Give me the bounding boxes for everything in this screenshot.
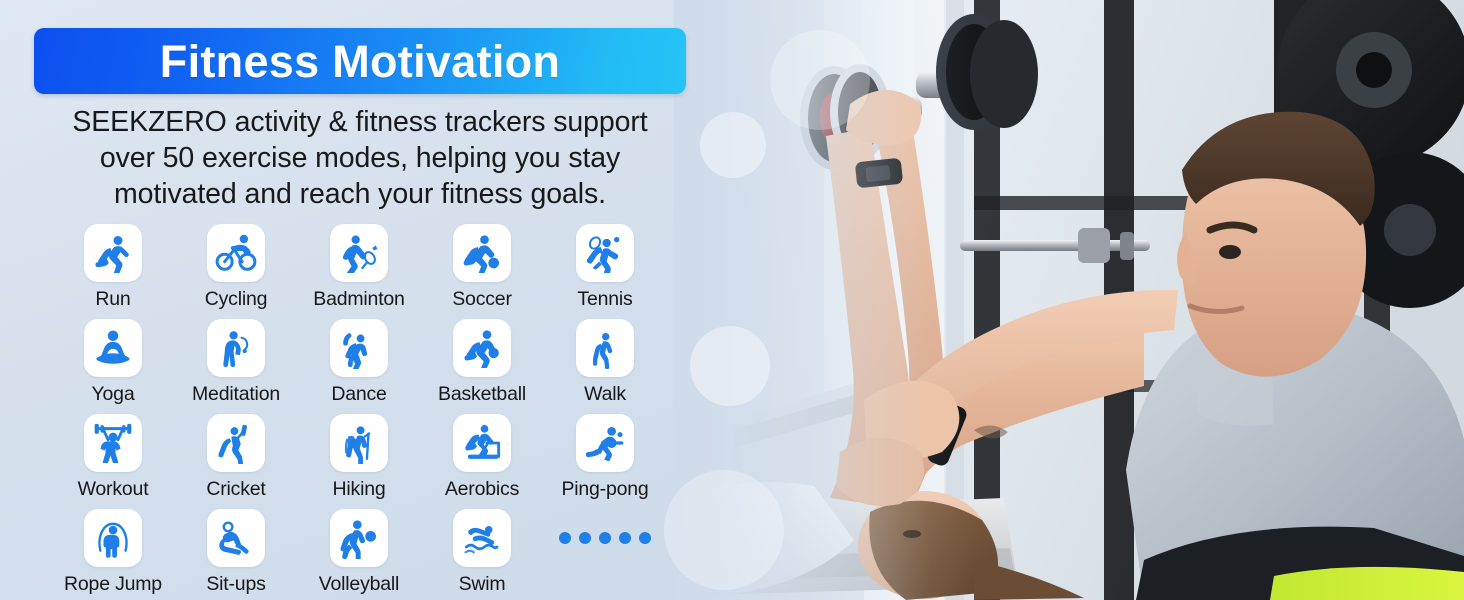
cricket-icon — [217, 422, 255, 464]
tennis-icon-tile — [576, 224, 634, 282]
rope-jump-icon — [94, 517, 132, 559]
soccer-icon-tile — [453, 224, 511, 282]
exercise-cell-dance[interactable]: Dance — [298, 319, 420, 405]
exercise-cell-rope-jump[interactable]: Rope Jump — [52, 509, 174, 595]
exercise-label: Volleyball — [319, 573, 399, 595]
meditation-icon — [217, 328, 255, 368]
volleyball-icon-tile — [330, 509, 388, 567]
description-line-2: over 50 exercise modes, helping you stay — [22, 140, 698, 176]
exercise-label: Sit-ups — [206, 573, 265, 595]
workout-icon — [92, 423, 134, 463]
dot-icon — [639, 532, 651, 544]
basketball-icon — [462, 328, 502, 368]
exercise-label: Rope Jump — [64, 573, 162, 595]
gym-photo-illustration — [674, 0, 1464, 600]
exercise-cell-tennis[interactable]: Tennis — [544, 224, 666, 310]
run-icon-tile — [84, 224, 142, 282]
exercise-label: Cricket — [206, 478, 265, 500]
dance-icon — [340, 327, 378, 369]
exercise-cell-cycling[interactable]: Cycling — [175, 224, 297, 310]
exercise-cell-ping-pong[interactable]: Ping-pong — [544, 414, 666, 500]
exercise-cell-hiking[interactable]: Hiking — [298, 414, 420, 500]
exercise-cell-basketball[interactable]: Basketball — [421, 319, 543, 405]
neon-accent — [1270, 567, 1464, 600]
exercise-label: Dance — [331, 383, 386, 405]
dot-icon — [619, 532, 631, 544]
exercise-cell-swim[interactable]: Swim — [421, 509, 543, 595]
more-modes-indicator — [544, 509, 666, 567]
exercise-label: Hiking — [333, 478, 386, 500]
exercise-row: Rope Jump Sit-ups — [52, 509, 692, 600]
exercise-label: Aerobics — [445, 478, 519, 500]
tennis-icon — [585, 233, 625, 273]
exercise-mode-grid: Run Cycling — [52, 224, 692, 600]
exercise-label: Walk — [584, 383, 626, 405]
exercise-cell-aerobics[interactable]: Aerobics — [421, 414, 543, 500]
hiking-icon-tile — [330, 414, 388, 472]
swim-icon-tile — [453, 509, 511, 567]
walk-icon — [588, 327, 622, 369]
badminton-icon — [339, 233, 379, 273]
dance-icon-tile — [330, 319, 388, 377]
ping-pong-icon — [584, 423, 626, 463]
swim-icon — [461, 520, 503, 556]
basketball-icon-tile — [453, 319, 511, 377]
cycling-icon — [215, 232, 257, 274]
volleyball-icon — [339, 517, 379, 559]
dot-icon — [579, 532, 591, 544]
exercise-cell-workout[interactable]: Workout — [52, 414, 174, 500]
exercise-cell-volleyball[interactable]: Volleyball — [298, 509, 420, 595]
exercise-cell-run[interactable]: Run — [52, 224, 174, 310]
exercise-row: Yoga Meditation — [52, 319, 692, 414]
badminton-icon-tile — [330, 224, 388, 282]
soccer-icon — [462, 233, 502, 273]
exercise-label: Run — [95, 288, 130, 310]
sit-ups-icon — [215, 519, 257, 557]
dot-icon — [559, 532, 571, 544]
description-line-1: SEEKZERO activity & fitness trackers sup… — [22, 104, 698, 140]
content-panel: Fitness Motivation SEEKZERO activity & f… — [0, 0, 700, 600]
meditation-icon-tile — [207, 319, 265, 377]
yoga-icon — [92, 327, 134, 369]
description-line-3: motivated and reach your fitness goals. — [22, 176, 698, 212]
exercise-label: Meditation — [192, 383, 280, 405]
aerobics-icon-tile — [453, 414, 511, 472]
rope-jump-icon-tile — [84, 509, 142, 567]
title-banner: Fitness Motivation — [34, 28, 686, 94]
sit-ups-icon-tile — [207, 509, 265, 567]
yoga-icon-tile — [84, 319, 142, 377]
walk-icon-tile — [576, 319, 634, 377]
exercise-cell-meditation[interactable]: Meditation — [175, 319, 297, 405]
exercise-label: Yoga — [92, 383, 135, 405]
exercise-cell-soccer[interactable]: Soccer — [421, 224, 543, 310]
exercise-row: Run Cycling — [52, 224, 692, 319]
cricket-icon-tile — [207, 414, 265, 472]
description-text: SEEKZERO activity & fitness trackers sup… — [22, 104, 698, 212]
dot-icon — [599, 532, 611, 544]
exercise-label: Workout — [78, 478, 149, 500]
cycling-icon-tile — [207, 224, 265, 282]
exercise-label: Ping-pong — [561, 478, 648, 500]
exercise-cell-walk[interactable]: Walk — [544, 319, 666, 405]
ping-pong-icon-tile — [576, 414, 634, 472]
run-icon — [93, 233, 133, 273]
hiking-icon — [340, 422, 378, 464]
exercise-cell-yoga[interactable]: Yoga — [52, 319, 174, 405]
exercise-label: Swim — [459, 573, 506, 595]
exercise-row: Workout Cricket — [52, 414, 692, 509]
aerobics-treadmill-icon — [461, 423, 503, 463]
exercise-label: Cycling — [205, 288, 268, 310]
exercise-cell-cricket[interactable]: Cricket — [175, 414, 297, 500]
exercise-cell-badminton[interactable]: Badminton — [298, 224, 420, 310]
exercise-cell-sit-ups[interactable]: Sit-ups — [175, 509, 297, 595]
workout-icon-tile — [84, 414, 142, 472]
exercise-label: Tennis — [577, 288, 632, 310]
exercise-label: Soccer — [452, 288, 512, 310]
gym-training-photo — [674, 0, 1464, 600]
page-title: Fitness Motivation — [160, 39, 560, 84]
exercise-label: Badminton — [313, 288, 404, 310]
fitness-motivation-banner: Fitness Motivation SEEKZERO activity & f… — [0, 0, 1464, 600]
exercise-label: Basketball — [438, 383, 526, 405]
